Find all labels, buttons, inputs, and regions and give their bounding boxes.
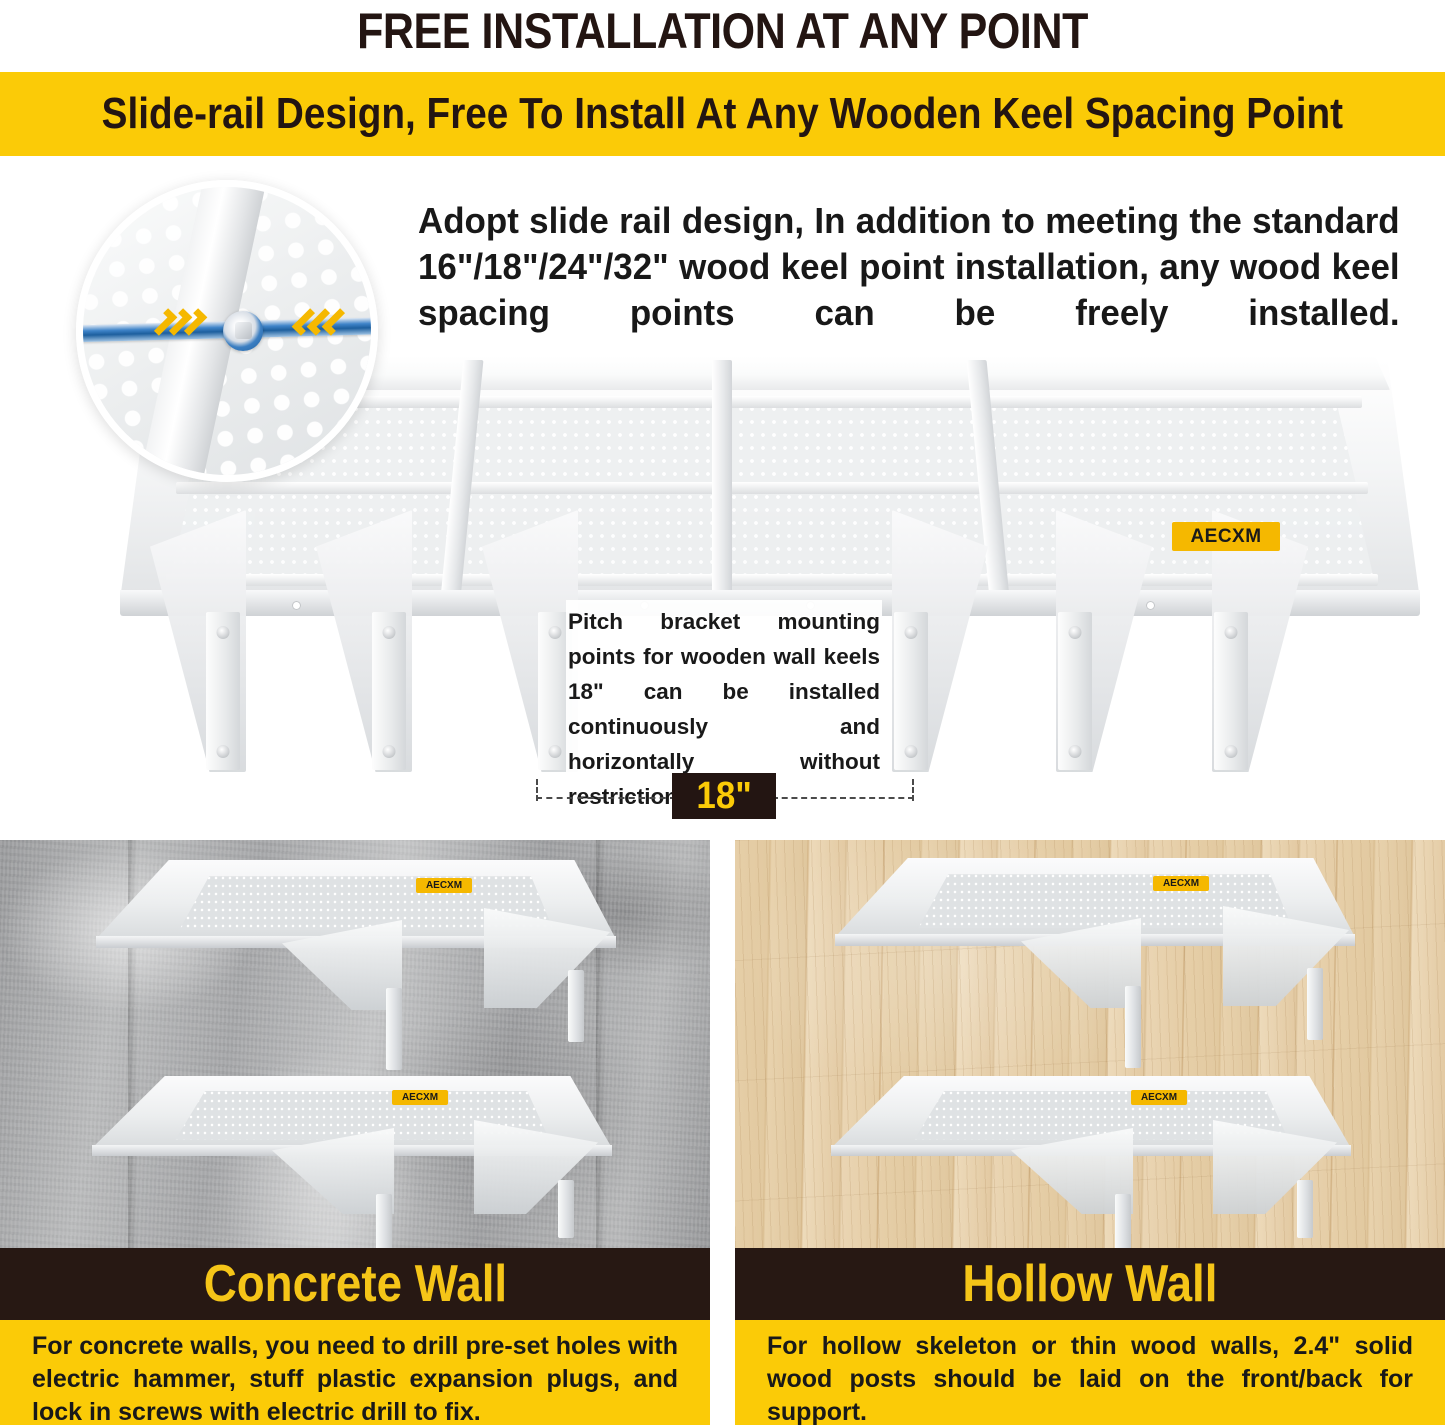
dimension-badge-label: 18" — [696, 777, 751, 815]
shelf-leg — [1297, 1180, 1313, 1238]
concrete-wall-photo: AECXM AECXM — [0, 840, 710, 1248]
mounted-shelf-lower: AECXM — [92, 1076, 612, 1240]
subtitle-banner: Slide-rail Design, Free To Install At An… — [0, 72, 1445, 156]
dimension-line-left — [536, 797, 676, 799]
shelf-brand-label: AECXM — [426, 880, 462, 891]
panel-body-band-hollow: For hollow skeleton or thin wood walls, … — [735, 1320, 1445, 1425]
hero-product-illustration: AECXM Pitch bracket mounting points for … — [0, 160, 1445, 835]
subtitle-banner-text: Slide-rail Design, Free To Install At An… — [102, 90, 1343, 138]
shelf-leg — [1125, 986, 1141, 1068]
dimension-tick-left — [536, 779, 538, 801]
shelf-brand-badge: AECXM — [1153, 876, 1209, 891]
shelf-brand-badge: AECXM — [416, 878, 472, 893]
brand-badge-label: AECXM — [1190, 526, 1261, 548]
lip-hole — [1146, 601, 1155, 610]
brand-badge: AECXM — [1172, 522, 1280, 551]
lip-hole — [292, 601, 301, 610]
dimension-line-right — [772, 797, 914, 799]
shelf-bracket — [206, 612, 240, 770]
dimension-tick-right — [912, 779, 914, 801]
dimension-badge: 18" — [672, 773, 776, 819]
shelf-brand-label: AECXM — [402, 1092, 438, 1103]
shelf-leg — [386, 988, 402, 1070]
shelf-brand-badge: AECXM — [392, 1090, 448, 1105]
shelf-brand-label: AECXM — [1163, 878, 1199, 889]
mounted-shelf-upper: AECXM — [96, 860, 616, 1040]
slide-rail-bolt — [223, 311, 263, 351]
panel-concrete-wall: AECXM AECXM — [0, 840, 710, 1425]
panel-hollow-wall: AECXM AECXM — [735, 840, 1445, 1425]
shelf-leg — [558, 1180, 574, 1238]
shelf-cross-rail-2 — [176, 482, 1368, 494]
mounted-shelf-upper: AECXM — [835, 858, 1355, 1038]
panel-title-band-hollow: Hollow Wall — [735, 1248, 1445, 1320]
shelf-leg — [376, 1194, 392, 1248]
shelf-leg — [1115, 1194, 1131, 1248]
shelf-brand-badge: AECXM — [1131, 1090, 1187, 1105]
shelf-bracket — [372, 612, 406, 770]
shelf-brand-label: AECXM — [1141, 1092, 1177, 1103]
shelf-spine-center — [712, 360, 732, 598]
panel-body-concrete: For concrete walls, you need to drill pr… — [32, 1330, 678, 1425]
panel-title-concrete: Concrete Wall — [203, 1256, 506, 1312]
shelf-bracket — [1214, 612, 1248, 770]
mounted-shelf-lower: AECXM — [831, 1076, 1351, 1240]
panel-body-band-concrete: For concrete walls, you need to drill pr… — [0, 1320, 710, 1425]
shelf-leg — [1307, 968, 1323, 1040]
shelf-bracket — [894, 612, 928, 770]
infographic-page: FREE INSTALLATION AT ANY POINT Slide-rai… — [0, 0, 1445, 1425]
panel-title-band-concrete: Concrete Wall — [0, 1248, 710, 1320]
hollow-wall-photo: AECXM AECXM — [735, 840, 1445, 1248]
shelf-bracket — [1058, 612, 1092, 770]
page-title: FREE INSTALLATION AT ANY POINT — [101, 2, 1344, 60]
slide-rail-magnifier — [76, 180, 378, 482]
wall-type-panels: AECXM AECXM — [0, 840, 1445, 1425]
panel-body-hollow: For hollow skeleton or thin wood walls, … — [767, 1330, 1413, 1425]
panel-title-hollow: Hollow Wall — [962, 1256, 1217, 1312]
shelf-leg — [568, 970, 584, 1042]
